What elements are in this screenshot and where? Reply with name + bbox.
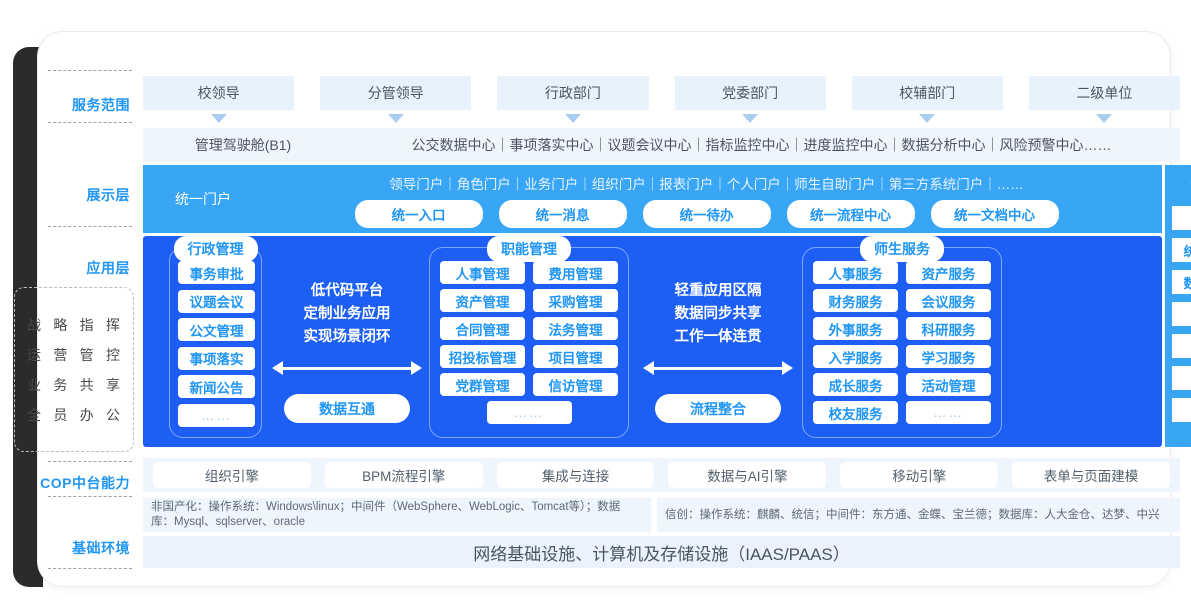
cockpit-row: 管理驾驶舱(B1) 公交数据中心｜事项落实中心｜议题会议中心｜指标监控中心｜进度… <box>143 128 1180 162</box>
third-party-item-data-center-integration[interactable]: 数据中心集成 <box>1172 270 1191 294</box>
arrow-head-right <box>782 361 793 375</box>
portal-chip-unified-entry[interactable]: 统一入口 <box>355 200 483 228</box>
portal-chip-unified-process-center[interactable]: 统一流程中心 <box>787 200 915 228</box>
app-chip-legal-management[interactable]: 法务管理 <box>533 317 618 340</box>
portal-chip-row: 统一入口 统一消息 统一待办 统一流程中心 统一文档中心 <box>263 200 1150 228</box>
group-administrative-management: 行政管理 事务审批 议题会议 公文管理 事项落实 新闻公告 …… <box>169 247 262 438</box>
service-chip-activity-management[interactable]: 活动管理 <box>906 373 991 396</box>
app-chip-contract-management[interactable]: 合同管理 <box>440 317 525 340</box>
rail-label-display-layer: 展示层 <box>22 185 130 205</box>
service-chip-grid: 人事服务 资产服务 财务服务 会议服务 外事服务 科研服务 入学服务 学习服务 … <box>813 261 991 424</box>
portal-chip-unified-message[interactable]: 统一消息 <box>499 200 627 228</box>
rail-label-infrastructure: 基础环境 <box>22 538 130 558</box>
third-party-item-finance-system[interactable]: 财务系统 <box>1172 334 1191 358</box>
functional-chip-grid: 人事管理 费用管理 资产管理 采购管理 合同管理 法务管理 招投标管理 项目管理… <box>440 261 618 424</box>
app-chip-document-management[interactable]: 公文管理 <box>178 318 255 341</box>
application-layer: 行政管理 事务审批 议题会议 公文管理 事项落实 新闻公告 …… 低代码平台 定… <box>143 236 1162 447</box>
app-chip-petition-management[interactable]: 信访管理 <box>533 373 618 396</box>
mid-left-line-3: 实现场景闭环 <box>269 326 425 349</box>
cockpit-centers-list: 公交数据中心｜事项落实中心｜议题会议中心｜指标监控中心｜进度监控中心｜数据分析中… <box>343 135 1180 155</box>
scope-chip-secondary-unit[interactable]: 二级单位 <box>1029 76 1180 110</box>
arrow-down-icon <box>742 114 758 123</box>
environment-row: 非国产化：操作系统：Windows\linux；中间件（WebSphere、We… <box>143 498 1180 532</box>
matrix-cell: 共 <box>80 375 95 395</box>
service-chip-growth-service[interactable]: 成长服务 <box>813 373 898 396</box>
cop-chip-org-engine[interactable]: 组织引擎 <box>153 462 311 488</box>
arrow-cell <box>497 110 648 126</box>
mid-right-line-3: 工作一体连贯 <box>640 326 796 349</box>
scope-chip-deputy-leader[interactable]: 分管领导 <box>320 76 471 110</box>
service-chip-finance-service[interactable]: 财务服务 <box>813 289 898 312</box>
service-chip-more[interactable]: …… <box>906 401 991 424</box>
cop-chip-integration-connection[interactable]: 集成与连接 <box>497 462 655 488</box>
app-chip-party-group-management[interactable]: 党群管理 <box>440 373 525 396</box>
arrow-down-icon <box>919 114 935 123</box>
capability-matrix-row: 全 员 办 公 <box>25 400 123 430</box>
bidirectional-arrow-left-icon <box>272 361 422 375</box>
app-chip-asset-management[interactable]: 资产管理 <box>440 289 525 312</box>
cockpit-label: 管理驾驶舱(B1) <box>143 135 343 155</box>
rail-divider <box>48 461 132 462</box>
service-scope-row: 校领导 分管领导 行政部门 党委部门 校辅部门 二级单位 <box>143 76 1180 110</box>
portal-type-list: 领导门户｜角色门户｜业务门户｜组织门户｜报表门户｜个人门户｜师生自助门户｜第三方… <box>263 170 1150 200</box>
service-chip-admission-service[interactable]: 入学服务 <box>813 345 898 368</box>
portal-chip-unified-todo[interactable]: 统一待办 <box>643 200 771 228</box>
arrow-down-icon <box>388 114 404 123</box>
third-party-item-archive-system[interactable]: 档案系统 <box>1172 302 1191 326</box>
rail-divider <box>48 70 132 71</box>
mid-left-line-1: 低代码平台 <box>269 280 425 303</box>
app-chip-admin-more[interactable]: …… <box>178 404 255 427</box>
matrix-cell: 略 <box>53 315 68 335</box>
rail-divider <box>48 496 132 497</box>
matrix-cell: 公 <box>106 405 121 425</box>
app-chip-news-announcement[interactable]: 新闻公告 <box>178 375 255 398</box>
matrix-cell: 指 <box>80 315 95 335</box>
pill-data-interoperability[interactable]: 数据互通 <box>284 394 410 423</box>
layer-rail: 服务范围 展示层 应用层 战 略 指 挥 运 营 管 控 业 务 共 享 <box>0 0 140 612</box>
portal-body: 领导门户｜角色门户｜业务门户｜组织门户｜报表门户｜个人门户｜师生自助门户｜第三方… <box>263 170 1162 228</box>
app-chip-topic-meeting[interactable]: 议题会议 <box>178 290 255 313</box>
arrow-head-left <box>643 361 654 375</box>
arrow-cell <box>1029 110 1180 126</box>
infrastructure-row: 网络基础设施、计算机及存储设施（IAAS/PAAS） <box>143 536 1180 568</box>
arrow-down-icon <box>565 114 581 123</box>
env-non-domestic: 非国产化：操作系统：Windows\linux；中间件（WebSphere、We… <box>143 498 651 532</box>
matrix-cell: 全 <box>27 405 42 425</box>
arrow-shaft <box>283 367 411 370</box>
arrow-shaft <box>654 367 782 370</box>
arrow-head-right <box>411 361 422 375</box>
app-chip-expense-management[interactable]: 费用管理 <box>533 261 618 284</box>
diagram-content: 校领导 分管领导 行政部门 党委部门 校辅部门 二级单位 管理驾驶舱(B1) 公… <box>143 0 1183 612</box>
rail-label-application-layer: 应用层 <box>22 258 130 278</box>
arrow-down-icon <box>1096 114 1112 123</box>
third-party-item-portal-integration[interactable]: 门户集成 <box>1172 206 1191 230</box>
rail-label-cop: COP中台能力 <box>22 473 130 493</box>
service-chip-asset-service[interactable]: 资产服务 <box>906 261 991 284</box>
matrix-cell: 运 <box>27 345 42 365</box>
architecture-diagram: 服务范围 展示层 应用层 战 略 指 挥 运 营 管 控 业 务 共 享 <box>0 0 1191 612</box>
service-chip-foreign-affairs-service[interactable]: 外事服务 <box>813 317 898 340</box>
arrow-cell <box>320 110 471 126</box>
matrix-cell: 办 <box>80 405 95 425</box>
matrix-cell: 营 <box>53 345 68 365</box>
display-layer: 统一门户 领导门户｜角色门户｜业务门户｜组织门户｜报表门户｜个人门户｜师生自助门… <box>143 165 1162 233</box>
arrow-cell <box>852 110 1003 126</box>
scope-chip-support-dept[interactable]: 校辅部门 <box>852 76 1003 110</box>
app-chip-affairs-approval[interactable]: 事务审批 <box>178 261 255 284</box>
mid-right-line-2: 数据同步共享 <box>640 303 796 326</box>
service-chip-research-service[interactable]: 科研服务 <box>906 317 991 340</box>
service-chip-alumni-service[interactable]: 校友服务 <box>813 401 898 424</box>
cop-chip-form-page-modeling[interactable]: 表单与页面建模 <box>1012 462 1170 488</box>
third-party-item-more[interactable]: …… <box>1172 398 1191 422</box>
group-teacher-student-service: 师生服务 人事服务 资产服务 财务服务 会议服务 外事服务 科研服务 入学服务 … <box>802 247 1002 438</box>
matrix-cell: 员 <box>53 405 68 425</box>
scope-chip-party-dept[interactable]: 党委部门 <box>675 76 826 110</box>
app-chip-procurement-management[interactable]: 采购管理 <box>533 289 618 312</box>
rail-divider <box>48 226 132 227</box>
app-chip-functional-more[interactable]: …… <box>487 401 572 424</box>
capability-matrix-row: 业 务 共 享 <box>25 370 123 400</box>
matrix-cell: 战 <box>27 315 42 335</box>
app-chip-bidding-management[interactable]: 招投标管理 <box>440 345 525 368</box>
rail-divider <box>48 122 132 123</box>
mid-right-text: 轻重应用区隔 数据同步共享 工作一体连贯 <box>640 280 796 349</box>
app-chip-hr-management[interactable]: 人事管理 <box>440 261 525 284</box>
capability-matrix-row: 运 营 管 控 <box>25 340 123 370</box>
scope-chip-school-leader[interactable]: 校领导 <box>143 76 294 110</box>
group-functional-management: 职能管理 人事管理 费用管理 资产管理 采购管理 合同管理 法务管理 招投标管理… <box>429 247 629 438</box>
arrow-cell <box>143 110 294 126</box>
cop-chip-bpm-engine[interactable]: BPM流程引擎 <box>325 462 483 488</box>
env-domestic-xinchuang: 信创：操作系统：麒麟、统信；中间件：东方通、金蝶、宝兰德；数据库：人大金仓、达梦… <box>657 498 1180 532</box>
unified-portal-label: 统一门户 <box>143 189 263 209</box>
portal-chip-unified-document-center[interactable]: 统一文档中心 <box>931 200 1059 228</box>
rail-label-service-scope: 服务范围 <box>22 95 130 115</box>
matrix-cell: 享 <box>106 375 121 395</box>
third-party-item-unified-identity[interactable]: 统一身份认证 <box>1172 238 1191 262</box>
scope-chip-admin-dept[interactable]: 行政部门 <box>497 76 648 110</box>
arrow-head-left <box>272 361 283 375</box>
arrow-cell <box>675 110 826 126</box>
rail-divider <box>48 568 132 569</box>
group-title-service: 师生服务 <box>860 236 944 262</box>
pill-process-integration[interactable]: 流程整合 <box>655 394 781 423</box>
service-chip-hr-service[interactable]: 人事服务 <box>813 261 898 284</box>
bidirectional-arrow-right-icon <box>643 361 793 375</box>
service-chip-meeting-service[interactable]: 会议服务 <box>906 289 991 312</box>
group-title-administrative: 行政管理 <box>174 236 258 262</box>
arrow-down-icon <box>211 114 227 123</box>
third-party-systems-panel: 第三方系统 门户集成 统一身份认证 数据中心集成 档案系统 财务系统 流程集成 … <box>1165 165 1191 447</box>
capability-matrix: 战 略 指 挥 运 营 管 控 业 务 共 享 全 员 办 公 <box>14 287 134 452</box>
mid-right-line-1: 轻重应用区隔 <box>640 280 796 303</box>
group-title-functional: 职能管理 <box>487 236 571 262</box>
cop-chip-data-ai-engine[interactable]: 数据与AI引擎 <box>668 462 826 488</box>
matrix-cell: 业 <box>27 375 42 395</box>
matrix-cell: 控 <box>106 345 121 365</box>
matrix-cell: 务 <box>53 375 68 395</box>
cop-chip-mobile-engine[interactable]: 移动引擎 <box>840 462 998 488</box>
mid-left-line-2: 定制业务应用 <box>269 303 425 326</box>
scope-arrows-row <box>143 110 1180 126</box>
matrix-cell: 挥 <box>106 315 121 335</box>
mid-left-text: 低代码平台 定制业务应用 实现场景闭环 <box>269 280 425 349</box>
app-chip-project-management[interactable]: 项目管理 <box>533 345 618 368</box>
matrix-cell: 管 <box>80 345 95 365</box>
capability-matrix-row: 战 略 指 挥 <box>25 310 123 340</box>
cop-capability-row: 组织引擎 BPM流程引擎 集成与连接 数据与AI引擎 移动引擎 表单与页面建模 <box>143 458 1180 492</box>
service-chip-learning-service[interactable]: 学习服务 <box>906 345 991 368</box>
third-party-item-process-integration[interactable]: 流程集成 <box>1172 366 1191 390</box>
app-chip-matter-implementation[interactable]: 事项落实 <box>178 347 255 370</box>
